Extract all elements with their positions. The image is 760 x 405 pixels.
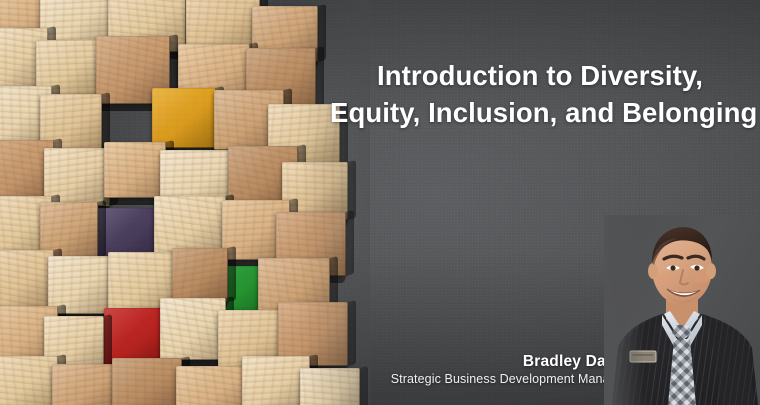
block-wood-29: [172, 248, 228, 302]
block-wood-38: [112, 358, 182, 405]
speaker-credit: Bradley Davis Strategic Business Develop…: [391, 352, 628, 387]
speaker-banner: Introduction to Diversity, Equity, Inclu…: [0, 0, 760, 405]
block-wood-39: [176, 366, 248, 405]
block-wood-41: [300, 368, 360, 405]
block-wood-26: [0, 250, 54, 312]
block-wood-37: [52, 364, 118, 405]
wooden-blocks-photo: [0, 0, 360, 405]
title-line-1: Introduction to Diversity,: [330, 57, 750, 94]
title-line-2: Equity, Inclusion, and Belonging: [330, 94, 750, 131]
block-wood-17: [104, 142, 166, 198]
block-wood-33: [160, 298, 226, 360]
block-wood-36: [0, 356, 58, 405]
speaker-headshot: [604, 215, 760, 405]
speaker-role: Strategic Business Development Manager: [391, 371, 628, 387]
headshot-left-fade: [604, 215, 760, 405]
block-yellow: [152, 88, 216, 148]
speaker-name: Bradley Davis: [391, 352, 628, 371]
page-title: Introduction to Diversity, Equity, Inclu…: [330, 57, 750, 131]
